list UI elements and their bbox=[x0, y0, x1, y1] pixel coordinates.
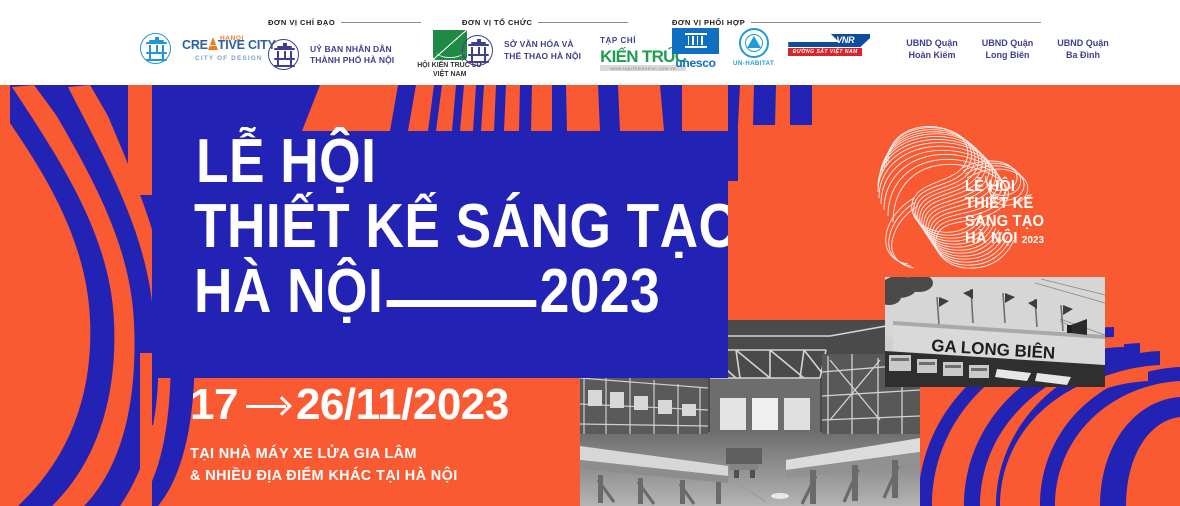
event-details: 17 26/11/2023 TẠI NHÀ MÁY XE LỬA GIA LÂM… bbox=[190, 383, 509, 488]
title-line-1: LỄ HỘI bbox=[196, 133, 647, 190]
hanoi-creative-city-wordmark: HANOI CRETIVE CITY CITY OF DESIGN bbox=[182, 36, 276, 62]
hcc-cre-text: CRE bbox=[182, 38, 208, 52]
festival-title: LỄ HỘI THIẾT KẾ SÁNG TẠO HÀ NỘI2023 bbox=[194, 133, 720, 320]
gate-emblem-icon bbox=[140, 33, 171, 64]
ubnd-line-1: UỶ BAN NHÂN DÂN bbox=[310, 44, 394, 55]
heading-rule-icon bbox=[751, 22, 1041, 23]
ubnd-hk-line-1: UBND Quận bbox=[906, 37, 958, 49]
ubnd-hk-line-2: Hoàn Kiếm bbox=[906, 49, 958, 61]
vnr-wordmark: VNR bbox=[836, 35, 854, 45]
railway-swoosh-icon: VNR ĐƯỜNG SẮT VIỆT NAM bbox=[788, 32, 870, 62]
title-line-3-city: HÀ NỘI bbox=[194, 257, 383, 326]
group-heading-text: ĐƠN VỊ PHỐI HỢP bbox=[672, 18, 745, 27]
un-habitat-icon bbox=[739, 28, 769, 58]
smark-year: 2023 bbox=[1022, 234, 1044, 246]
hcc-hanoi-text: HANOI bbox=[220, 35, 244, 42]
un-habitat-label: UN·HABITAT bbox=[733, 60, 774, 67]
heading-rule-icon bbox=[341, 22, 421, 23]
tckt-kicker: TẠP CHÍ bbox=[600, 36, 636, 45]
svhtt-line-2: THỂ THAO HÀ NỘI bbox=[504, 51, 581, 62]
date-start: 17 bbox=[190, 383, 238, 427]
gate-emblem-icon bbox=[268, 39, 299, 70]
group-heading-phoi-hop: ĐƠN VỊ PHỐI HỢP bbox=[672, 18, 1041, 27]
group-heading-text: ĐƠN VỊ TỔ CHỨC bbox=[462, 18, 532, 27]
triangle-a-icon bbox=[208, 37, 218, 50]
ubnd-ba-dinh-label: UBND Quận Ba Đình bbox=[1057, 37, 1109, 61]
gate-emblem-icon bbox=[462, 35, 493, 66]
unesco-logo: unesco bbox=[672, 28, 719, 70]
vnr-sub-label: ĐƯỜNG SẮT VIỆT NAM bbox=[788, 48, 862, 56]
smark-line4: HÀ NỘI bbox=[965, 230, 1018, 247]
smark-line2: THIẾT KẾ bbox=[965, 195, 1044, 212]
so-van-hoa-the-thao-label: SỞ VĂN HÓA VÀ THỂ THAO HÀ NỘI bbox=[504, 39, 581, 61]
un-habitat-logo: UN·HABITAT bbox=[733, 28, 774, 67]
title-line-3: HÀ NỘI2023 bbox=[194, 263, 646, 320]
venue-line-2: & NHIỀU ĐỊA ĐIỂM KHÁC TẠI HÀ NỘI bbox=[190, 465, 509, 487]
group-heading-chi-dao: ĐƠN VỊ CHỈ ĐẠO bbox=[268, 18, 421, 27]
festival-poster: GA LONG BIÊN bbox=[0, 0, 1180, 506]
ubnd-lb-line-1: UBND Quận bbox=[982, 37, 1034, 49]
svhtt-line-1: SỞ VĂN HÓA VÀ bbox=[504, 39, 581, 50]
photo-ga-long-bien-station: GA LONG BIÊN bbox=[885, 277, 1105, 387]
ubnd-line-2: THÀNH PHỐ HÀ NỘI bbox=[310, 55, 394, 66]
ubnd-bd-line-1: UBND Quận bbox=[1057, 37, 1109, 49]
hcc-city-of-design-text: CITY OF DESIGN bbox=[182, 55, 276, 62]
smark-line3: SÁNG TẠO bbox=[965, 213, 1044, 230]
event-date-range: 17 26/11/2023 bbox=[190, 383, 509, 427]
temple-icon bbox=[672, 28, 719, 54]
sponsor-logo-bar: HANOI CRETIVE CITY CITY OF DESIGN ĐƠN VỊ… bbox=[0, 0, 1180, 85]
uy-ban-nhan-dan-hanoi-label: UỶ BAN NHÂN DÂN THÀNH PHỐ HÀ NỘI bbox=[310, 44, 394, 66]
main-title-panel: LỄ HỘI THIẾT KẾ SÁNG TẠO HÀ NỘI2023 bbox=[152, 85, 728, 378]
group-heading-to-chuc: ĐƠN VỊ TỔ CHỨC bbox=[462, 18, 628, 27]
hkts-line-2: VIỆT NAM bbox=[417, 71, 482, 80]
unesco-wordmark: unesco bbox=[672, 56, 719, 70]
heading-rule-icon bbox=[538, 22, 628, 23]
title-panel-stripe-band bbox=[152, 85, 728, 131]
ubnd-long-bien-label: UBND Quận Long Biên bbox=[982, 37, 1034, 61]
group-heading-text: ĐƠN VỊ CHỈ ĐẠO bbox=[268, 18, 335, 27]
s-monogram-lockup-text: LỄ HỘI THIẾT KẾ SÁNG TẠO HÀ NỘI 2023 bbox=[965, 178, 1044, 247]
vietnam-railways-logo: VNR ĐƯỜNG SẮT VIỆT NAM bbox=[788, 32, 870, 62]
ubnd-bd-line-2: Ba Đình bbox=[1057, 49, 1109, 61]
title-line-2: THIẾT KẾ SÁNG TẠO bbox=[194, 198, 646, 255]
ubnd-lb-line-2: Long Biên bbox=[982, 49, 1034, 61]
date-end: 26/11/2023 bbox=[296, 383, 509, 427]
title-rule-icon bbox=[387, 300, 537, 307]
ubnd-hoan-kiem-label: UBND Quận Hoàn Kiếm bbox=[906, 37, 958, 61]
venue-line-1: TẠI NHÀ MÁY XE LỬA GIA LÂM bbox=[190, 443, 509, 465]
title-line-3-year: 2023 bbox=[540, 257, 660, 326]
smark-line4-row: HÀ NỘI 2023 bbox=[965, 230, 1044, 247]
smark-line1: LỄ HỘI bbox=[965, 178, 1044, 195]
arrow-right-icon bbox=[240, 383, 294, 427]
event-venue: TẠI NHÀ MÁY XE LỬA GIA LÂM & NHIỀU ĐỊA Đ… bbox=[190, 443, 509, 488]
